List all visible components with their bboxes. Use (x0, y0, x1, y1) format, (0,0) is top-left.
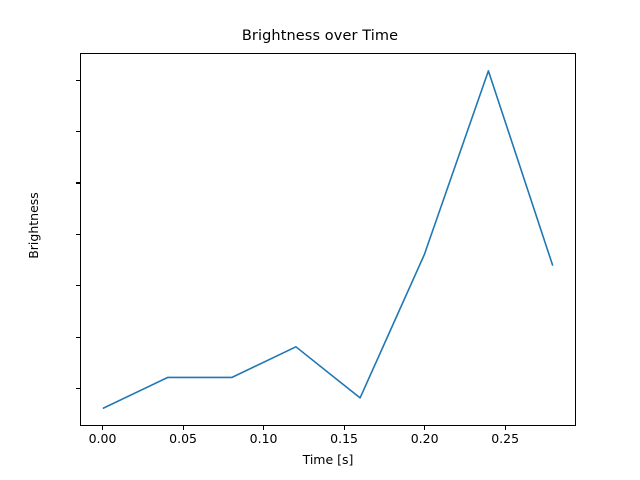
x-tick-label: 0.10 (250, 431, 278, 446)
y-tick-mark (76, 234, 80, 235)
x-tick-label: 0.15 (330, 431, 358, 446)
y-tick-mark (76, 80, 80, 81)
x-tick-mark (263, 426, 264, 430)
y-tick-mark (76, 388, 80, 389)
plot-area (80, 53, 576, 426)
line-series-svg (81, 54, 575, 425)
y-axis-label: Brightness (26, 39, 42, 412)
chart-title: Brightness over Time (0, 28, 640, 44)
x-tick-label: 0.20 (411, 431, 439, 446)
x-tick-mark (102, 426, 103, 430)
x-tick-label: 0.25 (491, 431, 519, 446)
x-tick-mark (183, 426, 184, 430)
y-tick-mark (76, 337, 80, 338)
brightness-line (103, 71, 552, 408)
x-axis-label: Time [s] (80, 452, 576, 467)
x-tick-label: 0.05 (169, 431, 197, 446)
y-tick-mark (76, 182, 80, 183)
y-tick-mark (76, 131, 80, 132)
x-tick-mark (344, 426, 345, 430)
y-tick-mark (76, 285, 80, 286)
figure-canvas: Brightness over Time 7580859095100105 0.… (0, 0, 640, 480)
x-tick-label: 0.00 (89, 431, 117, 446)
x-tick-mark (424, 426, 425, 430)
x-tick-mark (505, 426, 506, 430)
